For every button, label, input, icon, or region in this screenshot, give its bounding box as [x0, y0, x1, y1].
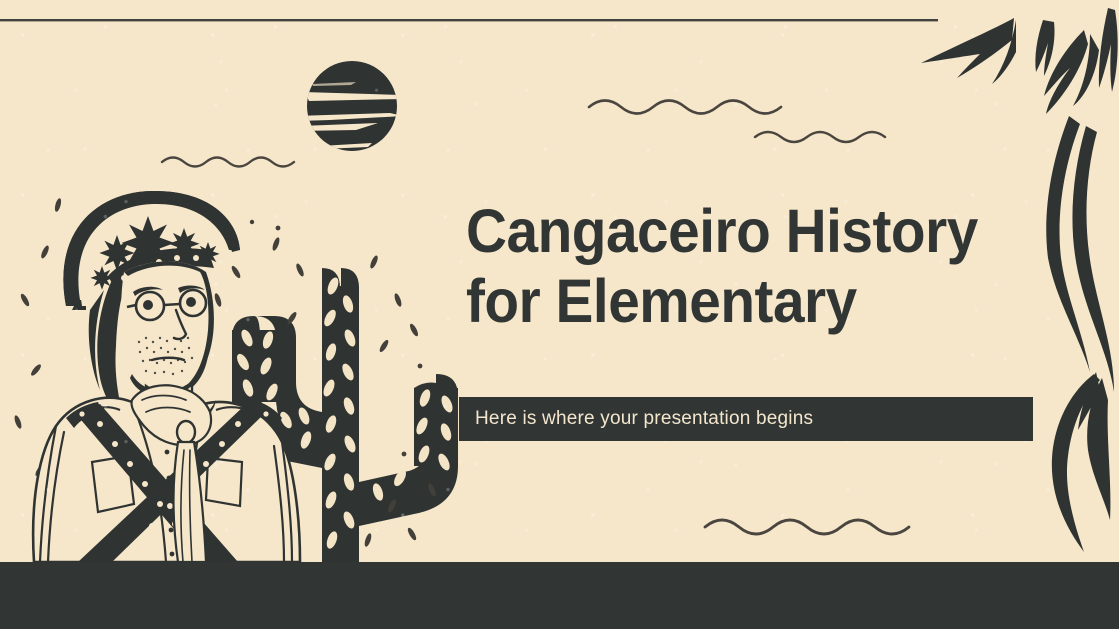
wave-line-top-short	[755, 132, 885, 142]
footer-bar	[0, 562, 1119, 629]
title-line-2: for Elementary	[466, 266, 1015, 336]
face	[121, 262, 214, 398]
subtitle-text: Here is where your presentation begins	[459, 408, 813, 430]
sun-icon	[296, 61, 403, 151]
subtitle-banner: Here is where your presentation begins	[459, 397, 1033, 441]
presentation-slide: Cangaceiro History for Elementary Here i…	[0, 0, 1119, 629]
top-rule	[0, 19, 938, 21]
title-line-1: Cangaceiro History	[466, 196, 1015, 266]
wave-line-bottom	[705, 520, 909, 534]
page-title: Cangaceiro History for Elementary	[466, 196, 1056, 336]
wave-line-left	[162, 158, 294, 167]
wave-line-top-long	[589, 101, 781, 114]
